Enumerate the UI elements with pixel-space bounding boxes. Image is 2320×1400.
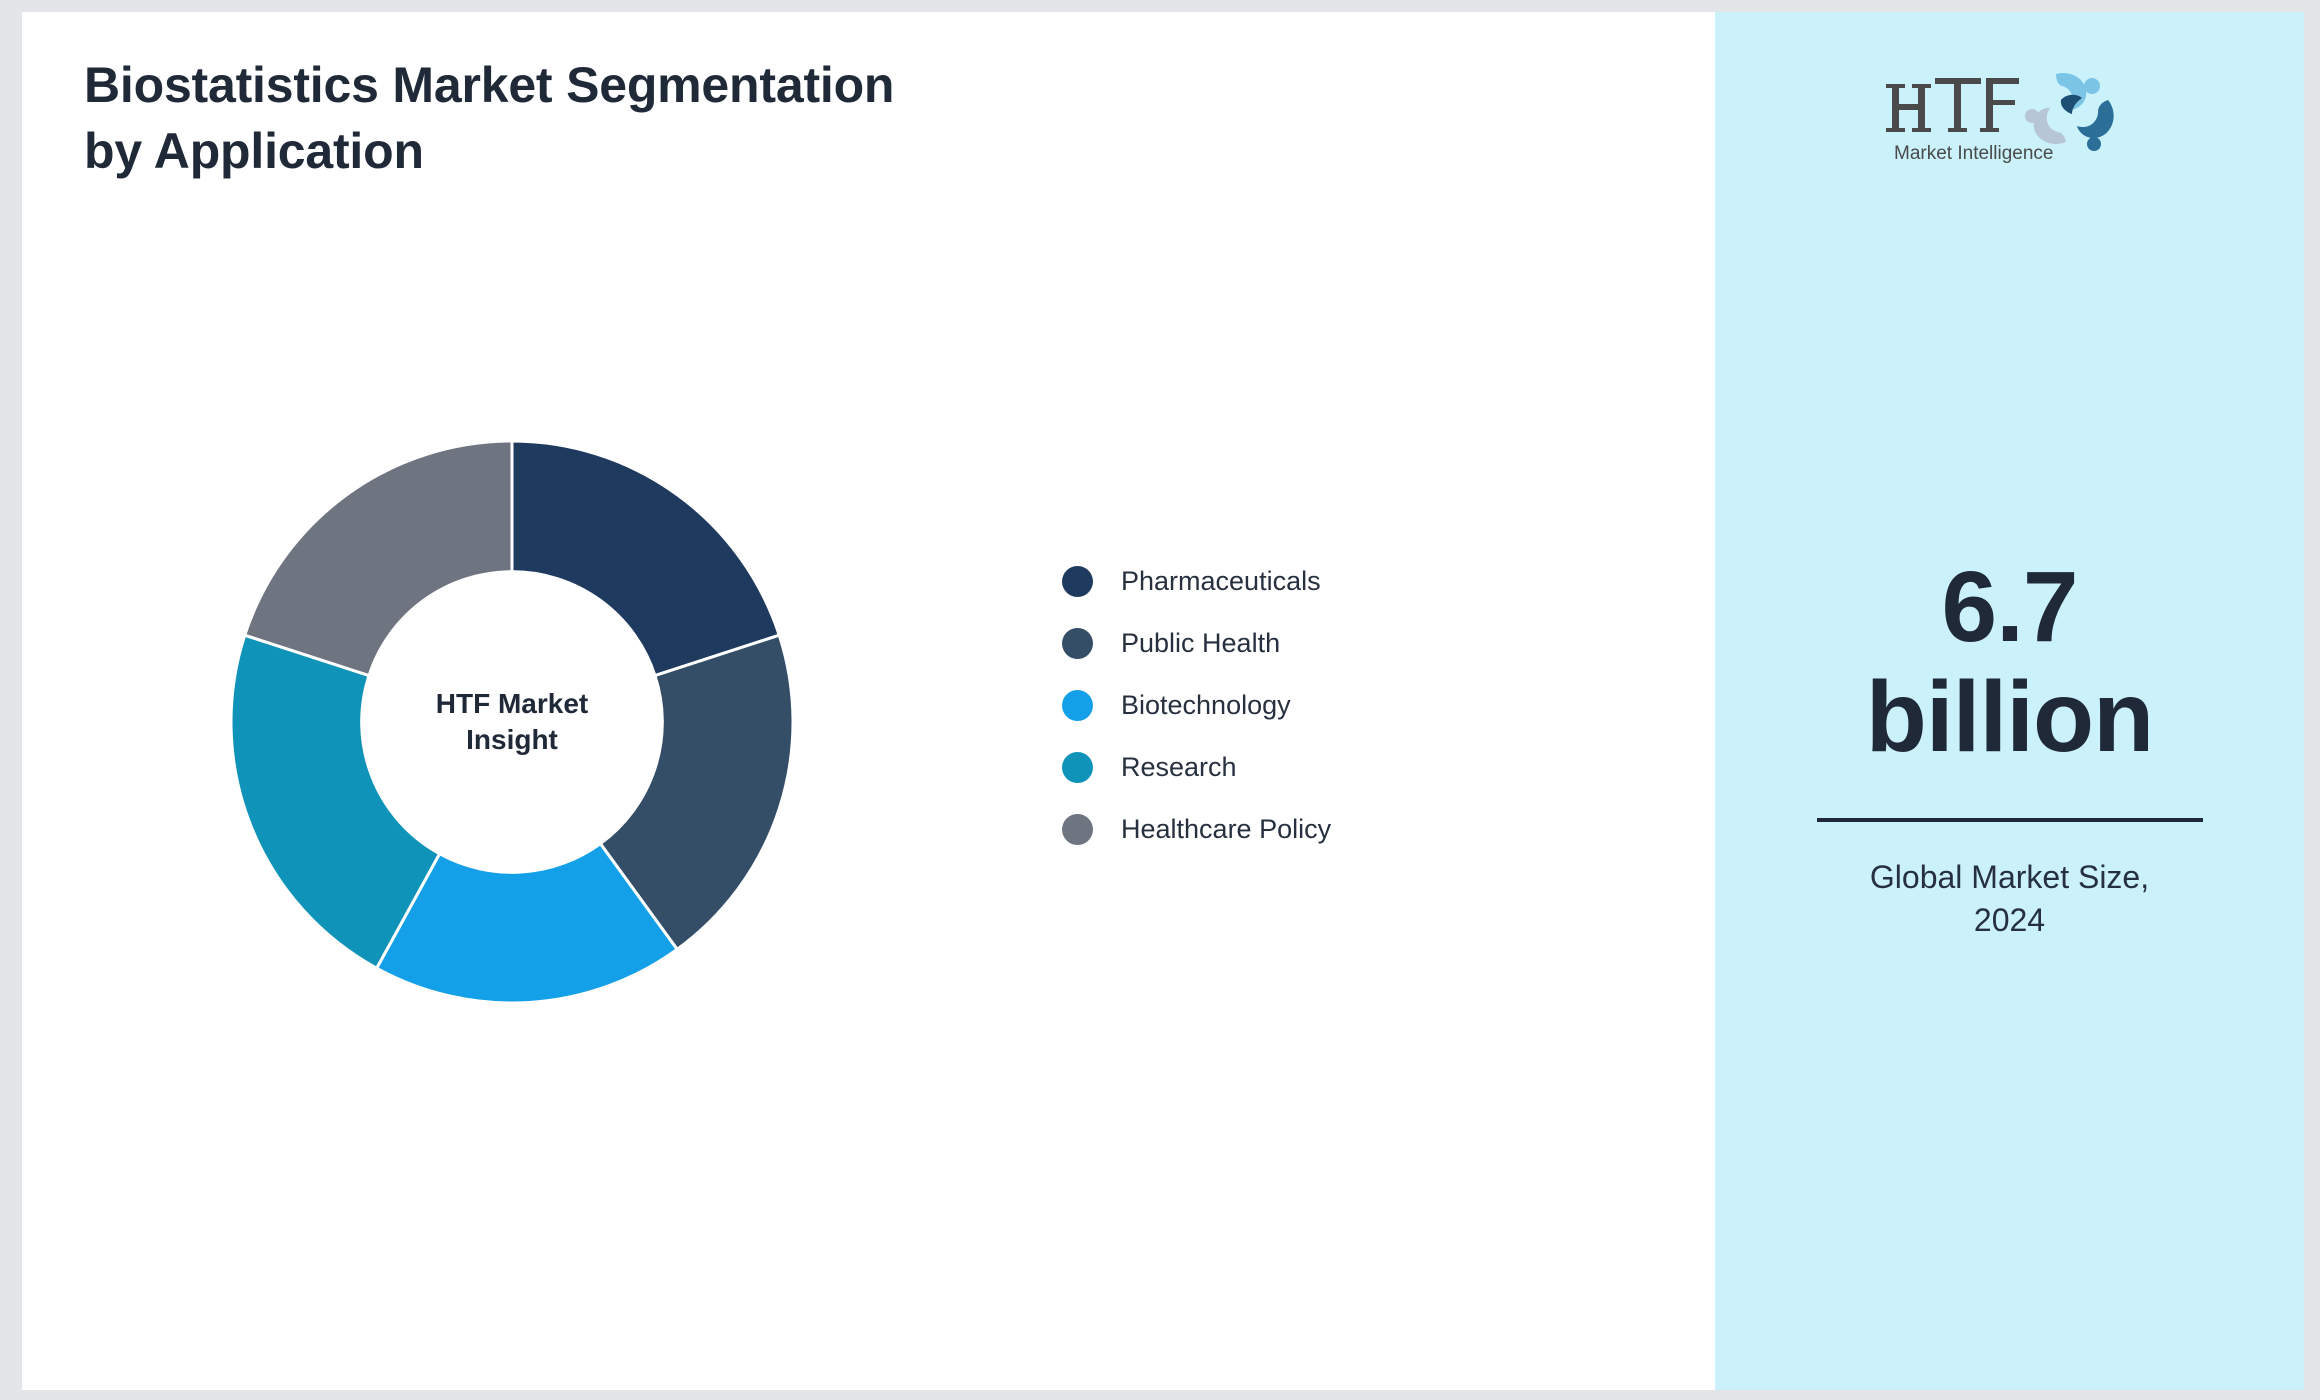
legend-item[interactable]: Public Health xyxy=(1062,622,1331,664)
chart-panel: Biostatistics Market Segmentation by App… xyxy=(22,12,1715,1390)
legend-swatch-icon xyxy=(1062,752,1093,783)
donut-slice[interactable] xyxy=(245,441,512,676)
chart-legend: PharmaceuticalsPublic HealthBiotechnolog… xyxy=(1062,560,1331,850)
stat-panel: Market Intelligence 6.7 billion Global M… xyxy=(1715,12,2304,1390)
legend-item-label: Public Health xyxy=(1121,628,1280,659)
donut-slice[interactable] xyxy=(512,441,779,676)
stat-value: 6.7 billion xyxy=(1775,552,2245,772)
legend-swatch-icon xyxy=(1062,566,1093,597)
htf-people-triskelion-icon xyxy=(2025,73,2114,151)
legend-swatch-icon xyxy=(1062,690,1093,721)
legend-item-label: Research xyxy=(1121,752,1237,783)
stat-divider xyxy=(1817,818,2203,822)
legend-item-label: Biotechnology xyxy=(1121,690,1291,721)
htf-logo: Market Intelligence xyxy=(1880,60,2140,170)
stat-caption: Global Market Size, 2024 xyxy=(1775,856,2245,941)
legend-item[interactable]: Biotechnology xyxy=(1062,684,1331,726)
page-title: Biostatistics Market Segmentation by App… xyxy=(84,52,1084,184)
headline-stat: 6.7 billion Global Market Size, 2024 xyxy=(1775,552,2245,941)
legend-item-label: Healthcare Policy xyxy=(1121,814,1331,845)
page-title-line-1: Biostatistics Market Segmentation xyxy=(84,52,1084,118)
stat-value-line-1: 6.7 xyxy=(1775,552,2245,662)
legend-swatch-icon xyxy=(1062,628,1093,659)
htf-wordmark xyxy=(1886,78,2019,132)
donut-chart: HTF Market Insight xyxy=(192,402,832,1042)
infographic-page: Biostatistics Market Segmentation by App… xyxy=(0,0,2320,1400)
htf-logo-svg: Market Intelligence xyxy=(1880,60,2140,170)
legend-item[interactable]: Research xyxy=(1062,746,1331,788)
stat-caption-line-1: Global Market Size, xyxy=(1775,856,2245,899)
donut-chart-svg xyxy=(192,402,832,1042)
page-title-line-2: by Application xyxy=(84,118,1084,184)
stat-caption-line-2: 2024 xyxy=(1775,899,2245,942)
legend-item-label: Pharmaceuticals xyxy=(1121,566,1321,597)
stat-value-line-2: billion xyxy=(1775,662,2245,772)
htf-logo-tagline: Market Intelligence xyxy=(1894,143,2053,164)
infographic-card: Biostatistics Market Segmentation by App… xyxy=(22,12,2304,1390)
donut-slice-group xyxy=(231,441,793,1003)
legend-item[interactable]: Pharmaceuticals xyxy=(1062,560,1331,602)
legend-swatch-icon xyxy=(1062,814,1093,845)
legend-item[interactable]: Healthcare Policy xyxy=(1062,808,1331,850)
